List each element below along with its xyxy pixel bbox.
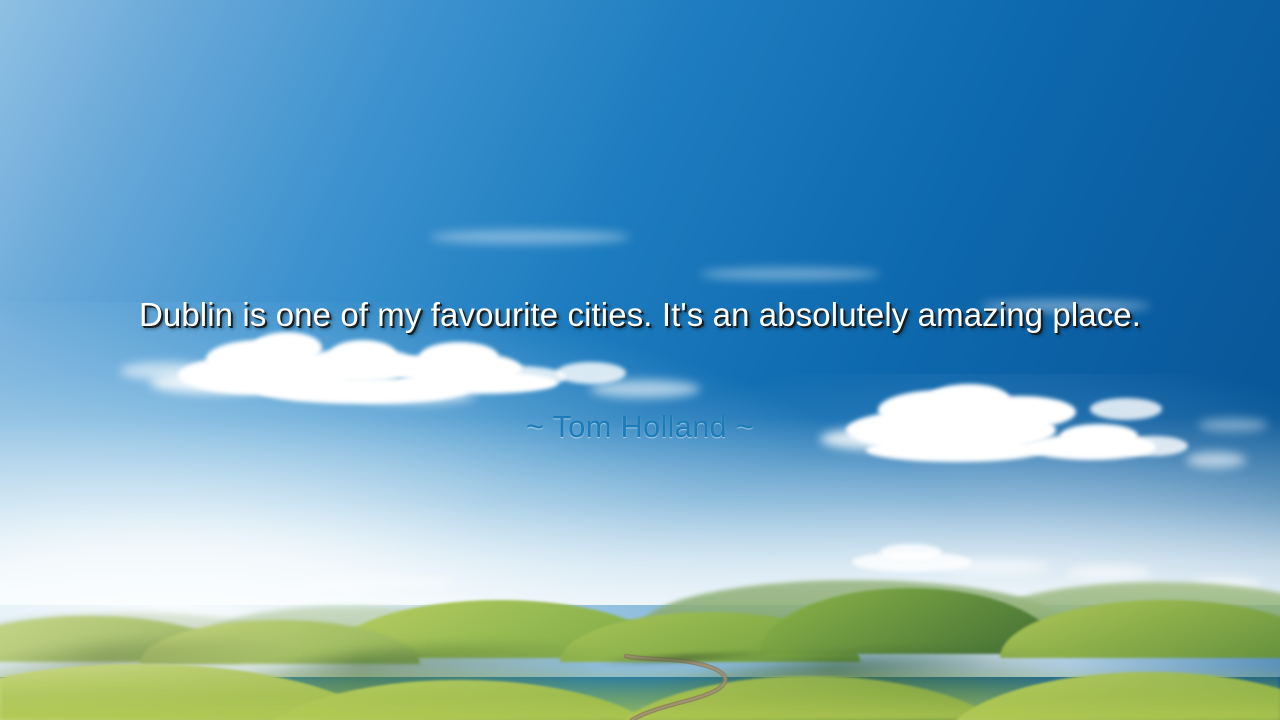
- cloud-wisp: [1186, 452, 1246, 468]
- cloud-wisp: [590, 380, 700, 398]
- cloud-wisp: [430, 230, 630, 244]
- cloud-shape: [420, 342, 498, 370]
- cloud-wisp: [700, 268, 880, 280]
- attribution-text: ~ Tom Holland ~: [0, 408, 1280, 446]
- cloud-shape: [330, 340, 396, 368]
- cloud-wisp: [120, 362, 210, 380]
- cloud-wisp: [356, 386, 476, 404]
- landscape-hills: [0, 530, 1280, 720]
- quote-text: Dublin is one of my favourite cities. It…: [90, 292, 1190, 337]
- attribution-block: ~ Tom Holland ~: [0, 408, 1280, 446]
- quote-block: Dublin is one of my favourite cities. It…: [0, 292, 1280, 337]
- quote-image-canvas: Dublin is one of my favourite cities. It…: [0, 0, 1280, 720]
- cloud-shape: [470, 366, 566, 388]
